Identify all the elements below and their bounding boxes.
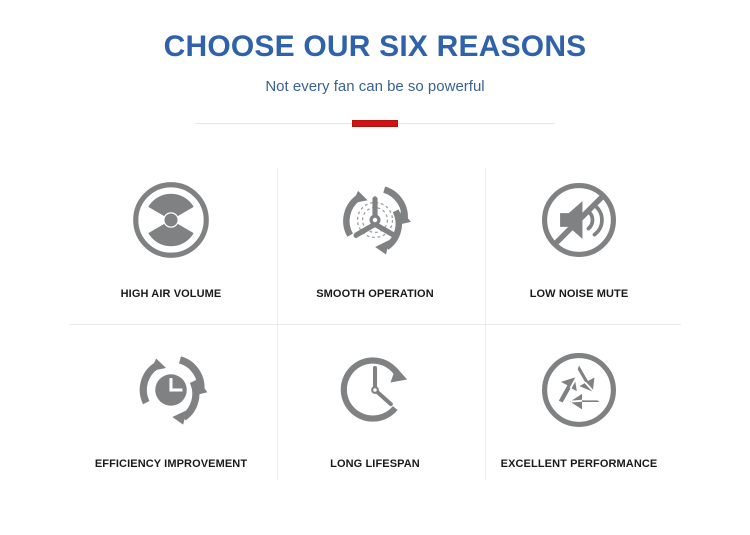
feature-label: EXCELLENT PERFORMANCE — [501, 458, 658, 471]
feature-cell-low-noise-mute[interactable]: LOW NOISE MUTE — [477, 154, 681, 324]
section-divider — [195, 120, 555, 128]
feature-label: LOW NOISE MUTE — [530, 288, 629, 301]
page-title: CHOOSE OUR SIX REASONS — [0, 30, 750, 64]
divider-accent-mark — [352, 120, 398, 127]
fan-rotation-arrows-icon — [329, 174, 421, 266]
page-header: CHOOSE OUR SIX REASONS Not every fan can… — [0, 0, 750, 96]
features-grid: HIGH AIR VOLUME — [69, 154, 681, 494]
feature-label: LONG LIFESPAN — [330, 458, 420, 471]
features-row: HIGH AIR VOLUME — [69, 154, 681, 324]
feature-label: SMOOTH OPERATION — [316, 288, 434, 301]
feature-cell-excellent-performance[interactable]: EXCELLENT PERFORMANCE — [477, 324, 681, 494]
feature-highlights-page: CHOOSE OUR SIX REASONS Not every fan can… — [0, 0, 750, 535]
feature-cell-efficiency-improvement[interactable]: EFFICIENCY IMPROVEMENT — [69, 324, 273, 494]
feature-label: EFFICIENCY IMPROVEMENT — [95, 458, 247, 471]
speaker-mute-slash-icon — [536, 174, 622, 266]
recycle-circle-icon — [536, 344, 622, 436]
feature-cell-smooth-operation[interactable]: SMOOTH OPERATION — [273, 154, 477, 324]
feature-cell-long-lifespan[interactable]: LONG LIFESPAN — [273, 324, 477, 494]
clock-rotation-arrows-icon — [126, 344, 216, 436]
page-subtitle: Not every fan can be so powerful — [0, 64, 750, 96]
features-row: EFFICIENCY IMPROVEMENT — [69, 324, 681, 494]
feature-cell-high-air-volume[interactable]: HIGH AIR VOLUME — [69, 154, 273, 324]
feature-label: HIGH AIR VOLUME — [121, 288, 222, 301]
radiation-trefoil-icon — [128, 174, 214, 266]
clock-arrow-icon — [331, 344, 419, 436]
